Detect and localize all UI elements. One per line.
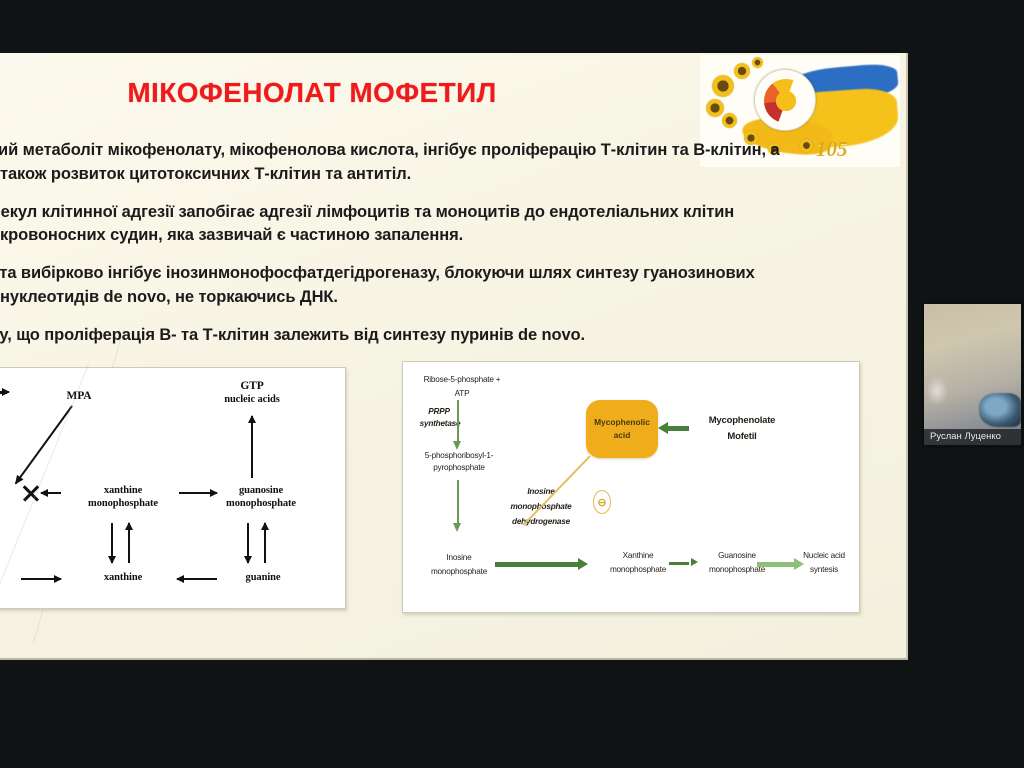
fig-right-mycophenolic-acid-box: Mycophenolic acid xyxy=(586,400,658,458)
paragraph-3: ого, оборотно та вибірково інгібує інози… xyxy=(0,262,788,310)
fig-left-inhibition-x-icon xyxy=(21,483,41,503)
fig-right-arrow-imp-to-xmp xyxy=(495,562,579,567)
sunflower-icon-4 xyxy=(722,113,737,128)
sunflower-icon-2 xyxy=(734,63,750,79)
fig-left-label-xanthine: xanthine xyxy=(65,572,181,584)
fig-right-inhibition-symbol: ⊖ xyxy=(593,490,611,514)
fig-right-label-xmp-line2: monophosphate xyxy=(589,564,687,576)
fig-right-label-xmp-line1: Xanthine xyxy=(589,550,687,562)
fig-left-arrow-hypoxanthine-to-xanthine xyxy=(21,578,61,580)
fig-left-label-gtp-line1: GTP xyxy=(209,380,295,394)
paragraph-1: ізм дії: Активний метаболіт мікофенолату… xyxy=(0,139,788,187)
fig-right-label-ribose5p: Ribose-5-phosphate + xyxy=(409,374,515,386)
fig-right-label-nucleic-line2: syntesis xyxy=(789,564,859,576)
fig-right-label-prpp-line1: 5-phosphoribosyl-1- xyxy=(403,450,515,462)
diagram-row: phenolate il vo ay ge ay in vivo hydroly… xyxy=(0,361,908,611)
paragraph-3-text: ого, оборотно та вибірково інгібує інози… xyxy=(0,264,755,306)
fig-left-arrow-gmp-down xyxy=(247,523,249,563)
fig-left-arrow-mpa-inhibits xyxy=(15,405,73,484)
fig-right-label-mmf-line1: Mycophenolate xyxy=(689,414,795,428)
fig-right-label-prpp-line2: pyrophosphate xyxy=(403,462,515,474)
fig-right-arrow-mmf-to-mpa xyxy=(667,426,689,431)
fig-right-label-imp-line2: monophosphate xyxy=(403,566,515,578)
paragraph-4: бувається тому, що проліферація В- та Т-… xyxy=(0,324,788,348)
fig-left-label-mpa: MPA xyxy=(59,390,99,404)
figure-purine-pathway-color: Ribose-5-phosphate + ATP PRPP synthetase… xyxy=(402,361,860,613)
fig-right-label-impdh-line1: Inosine xyxy=(499,486,583,498)
fig-left-label-hypoxanthine: hypoxanthine xyxy=(0,572,9,584)
fig-left-arrow-xmp-to-imp xyxy=(41,492,61,494)
participant-video-tile[interactable]: Руслан Луценко xyxy=(921,301,1024,448)
participant-name-label: Руслан Луценко xyxy=(924,429,1021,445)
paragraph-1-text: Активний метаболіт мікофенолату, мікофен… xyxy=(0,141,780,183)
fig-right-label-prpp-synthetase-line2: synthetase xyxy=(405,418,475,430)
fig-left-label-gmp-line2: monophosphate xyxy=(203,498,319,510)
sunflower-icon-8 xyxy=(752,57,763,68)
fig-left-arrow-hydrolysis xyxy=(0,391,9,393)
sunflower-icon-7 xyxy=(800,139,813,152)
fig-right-label-gmp-line1: Guanosine xyxy=(685,550,789,562)
fig-left-arrow-gmp-up xyxy=(264,523,266,563)
video-foreground-object xyxy=(979,393,1021,427)
paragraph-2: илювання молекул клітинної адгезії запоб… xyxy=(0,201,788,249)
fig-right-label-mmf-line2: Mofetil xyxy=(689,430,795,444)
university-emblem-icon xyxy=(754,69,816,131)
sunflower-icon xyxy=(712,75,734,97)
fig-right-arrow-prpp-to-imp xyxy=(457,480,459,524)
fig-right-arrow-ribose-to-prpp xyxy=(457,400,459,442)
video-glare xyxy=(926,376,948,406)
page-title: МІКОФЕНОЛАТ МОФЕТИЛ xyxy=(0,77,742,109)
fig-left-label-imp-line2: monophosphate xyxy=(0,498,9,510)
shared-presentation-slide[interactable]: МІКОФЕНОЛАТ МОФЕТИЛ 105 ізм дії: Активни… xyxy=(0,53,908,660)
fig-left-arrow-xmp-down xyxy=(111,523,113,563)
fig-left-label-imp-line1: inosine xyxy=(0,485,9,497)
fig-right-label-impdh-line3: dehydrogenase xyxy=(499,516,583,528)
fig-left-label-gtp-line2: nucleic acids xyxy=(209,394,295,406)
slide-body-text: ізм дії: Активний метаболіт мікофенолату… xyxy=(0,139,788,361)
paragraph-4-text: бувається тому, що проліферація В- та Т-… xyxy=(0,326,585,344)
fig-left-label-guanine: guanine xyxy=(213,572,313,584)
video-conference-screen: МІКОФЕНОЛАТ МОФЕТИЛ 105 ізм дії: Активни… xyxy=(0,0,1024,768)
fig-left-arrow-guanine-to-xanthine xyxy=(177,578,217,580)
fig-left-label-hydrolysis: hydrolysis xyxy=(0,395,5,407)
fig-left-label-xmp-line1: xanthine xyxy=(65,485,181,497)
anniversary-number: 105 xyxy=(816,137,848,162)
paragraph-2-text: илювання молекул клітинної адгезії запоб… xyxy=(0,203,734,245)
fig-right-label-nucleic-line1: Nucleic acid xyxy=(789,550,859,562)
emblem-wreath-icon xyxy=(764,79,808,123)
fig-left-label-xmp-line2: monophosphate xyxy=(65,498,181,510)
fig-left-label-in-vivo: in vivo xyxy=(0,378,1,390)
fig-right-label-atp: ATP xyxy=(409,388,515,400)
fig-left-label-gmp-line1: guanosine xyxy=(203,485,319,497)
fig-left-arrow-xmp-up xyxy=(128,523,130,563)
figure-purine-pathway-bw: phenolate il vo ay ge ay in vivo hydroly… xyxy=(0,367,346,609)
sunflower-icon-3 xyxy=(706,99,724,117)
fig-left-arrow-to-gtp xyxy=(251,416,253,478)
